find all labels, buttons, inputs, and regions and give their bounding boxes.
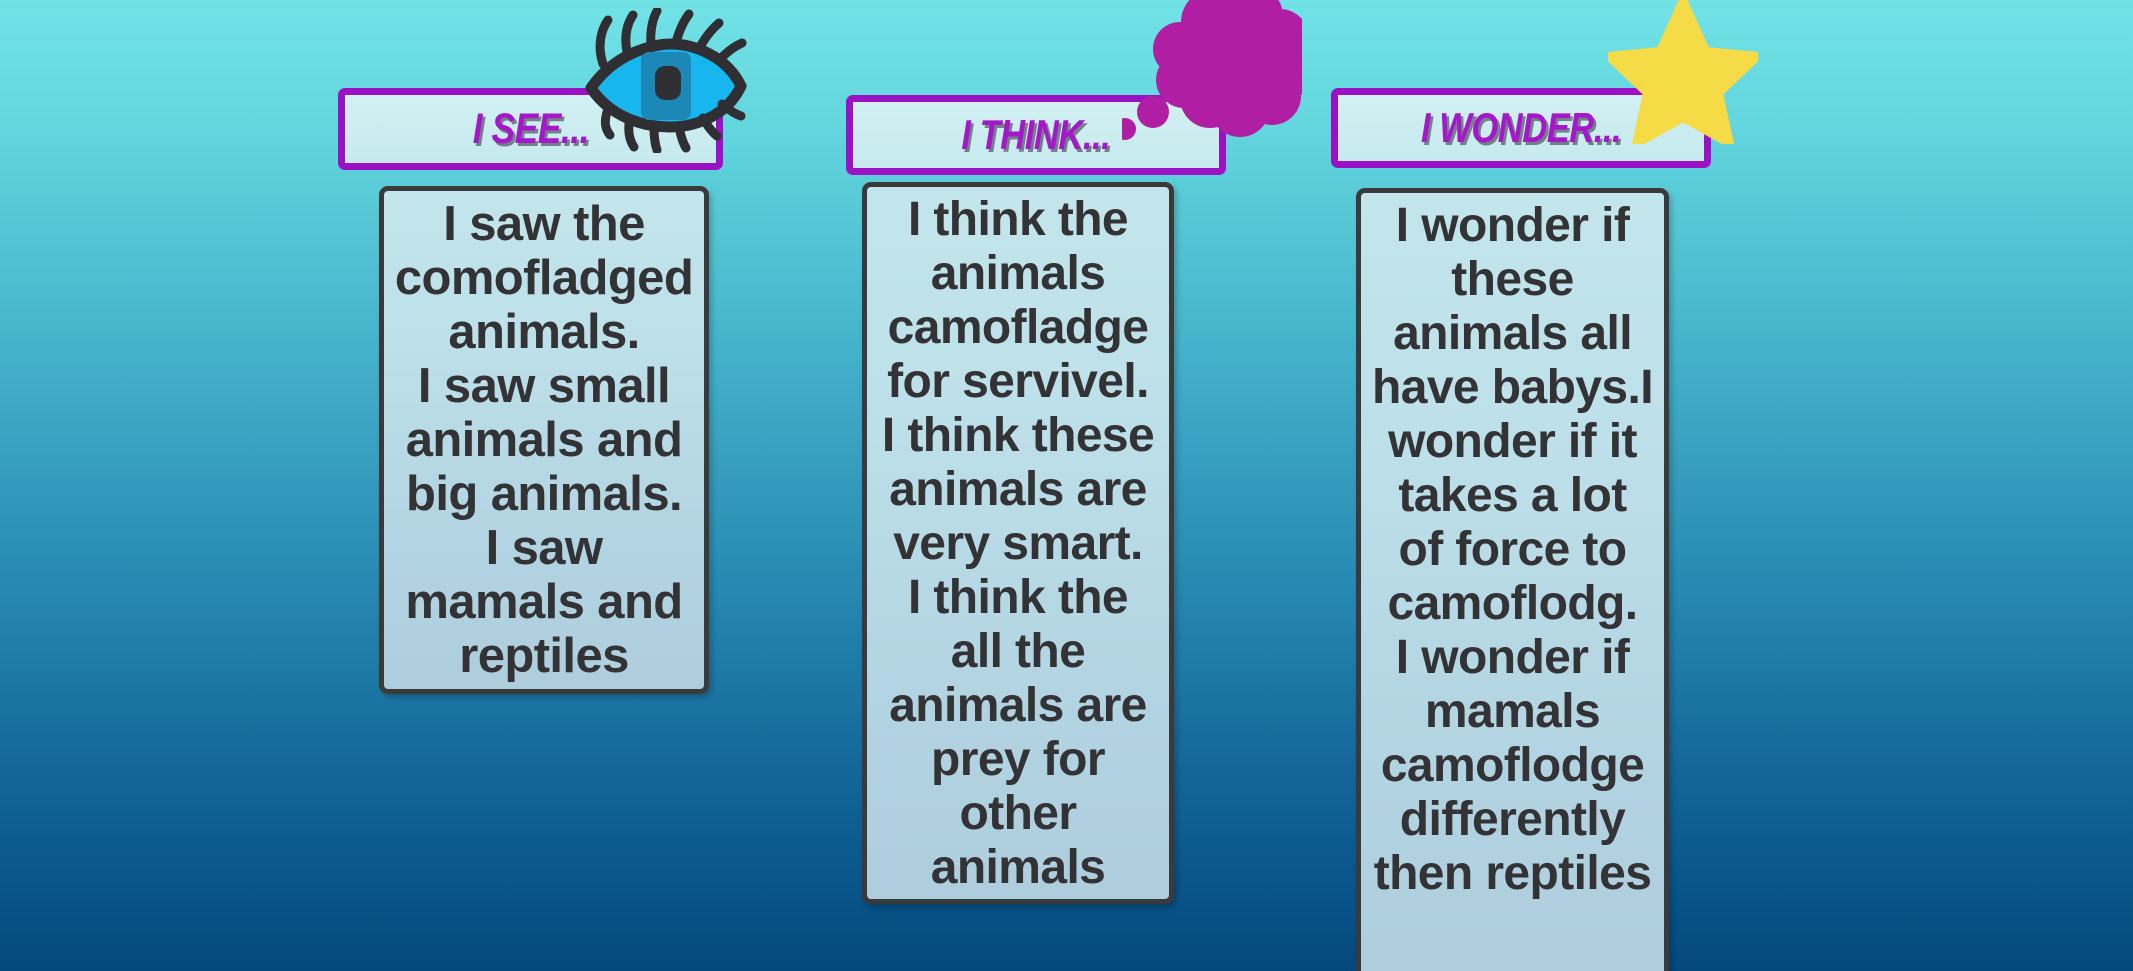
- header-label-i-see: I SEE...: [472, 105, 588, 154]
- header-label-i-wonder: I WONDER...: [1421, 104, 1621, 152]
- slide-canvas: I SEE... I saw the comofladged animals. …: [0, 0, 2133, 971]
- header-label-i-think: I THINK...: [962, 111, 1111, 159]
- body-text-i-see: I saw the comofladged animals. I saw sma…: [394, 197, 694, 683]
- header-box-i-think[interactable]: I THINK...: [846, 95, 1226, 175]
- body-card-i-wonder[interactable]: I wonder if these animals all have babys…: [1356, 188, 1669, 971]
- body-text-i-think: I think the animals camofladge for servi…: [877, 193, 1159, 895]
- header-box-i-see[interactable]: I SEE...: [338, 88, 723, 170]
- body-card-i-see[interactable]: I saw the comofladged animals. I saw sma…: [379, 186, 709, 694]
- header-box-i-wonder[interactable]: I WONDER...: [1331, 88, 1711, 168]
- body-text-i-wonder: I wonder if these animals all have babys…: [1371, 199, 1654, 901]
- body-card-i-think[interactable]: I think the animals camofladge for servi…: [862, 182, 1174, 904]
